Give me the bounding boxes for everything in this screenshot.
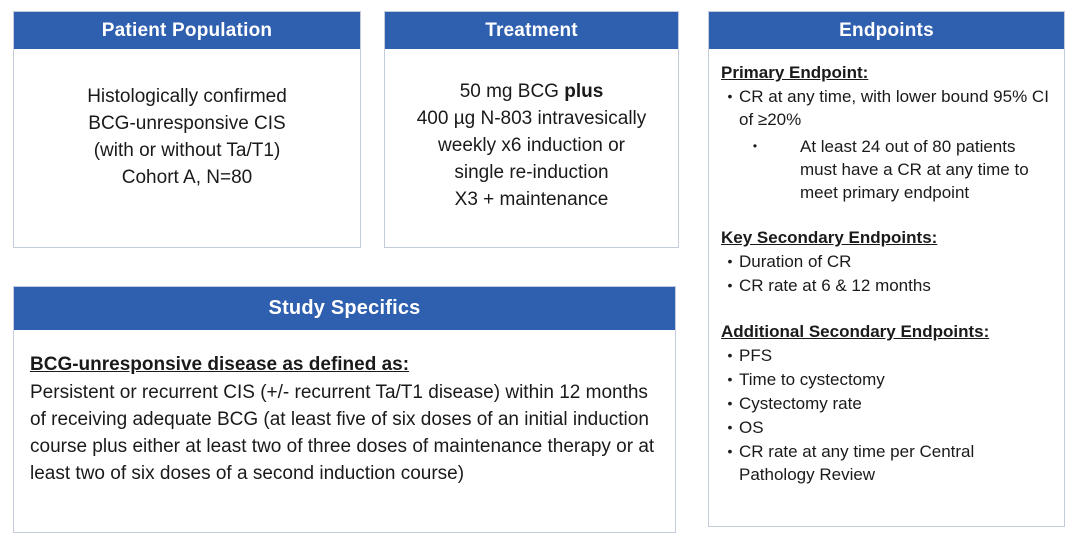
additional-secondary-endpoint-text: CR rate at any time per Central Patholog…	[739, 440, 1054, 486]
key-secondary-endpoint-text: Duration of CR	[739, 250, 1054, 273]
key-secondary-endpoint-text: CR rate at 6 & 12 months	[739, 274, 1054, 297]
endpoints-panel: Endpoints Primary Endpoint: • CR at any …	[708, 11, 1065, 527]
endpoints-header: Endpoints	[709, 12, 1064, 49]
primary-endpoint-sub-bullet-text: At least 24 out of 80 patients must have…	[762, 135, 1054, 204]
treatment-line: weekly x6 induction or	[391, 132, 672, 159]
primary-endpoint-sub-bullet-item: • At least 24 out of 80 patients must ha…	[721, 135, 1054, 204]
patient-population-line: (with or without Ta/T1)	[24, 137, 350, 164]
list-item: • PFS	[721, 344, 1054, 367]
bullet-icon: •	[721, 274, 739, 297]
primary-endpoint-bullet-text: CR at any time, with lower bound 95% CI …	[739, 85, 1054, 131]
additional-secondary-endpoints-section: Additional Secondary Endpoints: • PFS • …	[721, 320, 1054, 486]
patient-population-line: Cohort A, N=80	[24, 164, 350, 191]
treatment-panel: Treatment 50 mg BCG plus 400 µg N-803 in…	[384, 11, 679, 248]
treatment-line: X3 + maintenance	[391, 186, 672, 213]
additional-secondary-endpoints-heading: Additional Secondary Endpoints:	[721, 320, 1054, 343]
bullet-icon: •	[721, 416, 739, 439]
patient-population-header: Patient Population	[14, 12, 360, 49]
key-secondary-endpoints-list: • Duration of CR • CR rate at 6 & 12 mon…	[721, 250, 1054, 297]
patient-population-line: BCG-unresponsive CIS	[24, 110, 350, 137]
additional-secondary-endpoints-list: • PFS • Time to cystectomy • Cystectomy …	[721, 344, 1054, 486]
treatment-plus-emphasis: plus	[564, 81, 603, 102]
bullet-icon: •	[721, 440, 739, 463]
primary-endpoint-bullet-item: • CR at any time, with lower bound 95% C…	[721, 85, 1054, 131]
list-item: • Time to cystectomy	[721, 368, 1054, 391]
treatment-header: Treatment	[385, 12, 678, 49]
endpoints-body: Primary Endpoint: • CR at any time, with…	[709, 49, 1064, 486]
bcg-unresponsive-definition-heading: BCG-unresponsive disease as defined as:	[30, 351, 659, 378]
additional-secondary-endpoint-text: PFS	[739, 344, 1054, 367]
sub-bullet-icon: •	[748, 135, 762, 158]
bullet-icon: •	[721, 368, 739, 391]
bullet-icon: •	[721, 85, 739, 108]
key-secondary-endpoints-heading: Key Secondary Endpoints:	[721, 226, 1054, 249]
patient-population-line: Histologically confirmed	[24, 83, 350, 110]
treatment-line: 400 µg N-803 intravesically	[391, 105, 672, 132]
list-item: • OS	[721, 416, 1054, 439]
patient-population-body: Histologically confirmed BCG-unresponsiv…	[14, 49, 360, 191]
treatment-body: 50 mg BCG plus 400 µg N-803 intravesical…	[385, 49, 678, 213]
primary-endpoint-section: Primary Endpoint: • CR at any time, with…	[721, 61, 1054, 204]
list-item: • Cystectomy rate	[721, 392, 1054, 415]
treatment-line-dose: 50 mg BCG plus	[391, 78, 672, 105]
list-item: • CR rate at 6 & 12 months	[721, 274, 1054, 297]
list-item: • Duration of CR	[721, 250, 1054, 273]
treatment-line: single re-induction	[391, 159, 672, 186]
primary-endpoint-heading: Primary Endpoint:	[721, 61, 1054, 84]
treatment-dose-text: 50 mg BCG	[460, 81, 565, 102]
additional-secondary-endpoint-text: Cystectomy rate	[739, 392, 1054, 415]
bullet-icon: •	[721, 250, 739, 273]
additional-secondary-endpoint-text: OS	[739, 416, 1054, 439]
trial-design-diagram: Patient Population Histologically confir…	[0, 0, 1080, 543]
additional-secondary-endpoint-text: Time to cystectomy	[739, 368, 1054, 391]
study-specifics-header: Study Specifics	[14, 287, 675, 330]
bullet-icon: •	[721, 392, 739, 415]
bullet-icon: •	[721, 344, 739, 367]
study-specifics-panel: Study Specifics BCG-unresponsive disease…	[13, 286, 676, 533]
section-spacer	[721, 204, 1054, 226]
study-specifics-body: BCG-unresponsive disease as defined as: …	[14, 330, 675, 487]
key-secondary-endpoints-section: Key Secondary Endpoints: • Duration of C…	[721, 226, 1054, 297]
list-item: • CR rate at any time per Central Pathol…	[721, 440, 1054, 486]
section-spacer	[721, 298, 1054, 320]
bcg-unresponsive-definition-text: Persistent or recurrent CIS (+/- recurre…	[30, 379, 659, 487]
patient-population-panel: Patient Population Histologically confir…	[13, 11, 361, 248]
